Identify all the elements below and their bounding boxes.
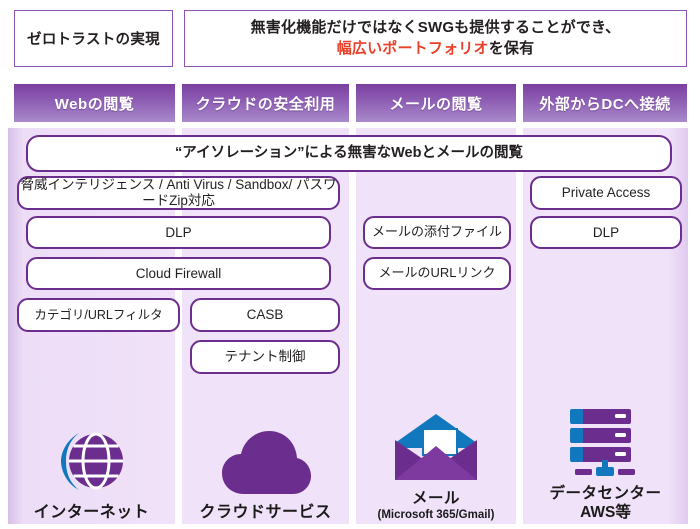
capability-dlp-web-label: DLP — [165, 225, 191, 241]
endpoint-datacenter-label: データセンター — [549, 485, 661, 503]
message-line-2: 幅広いポートフォリオを保有 — [337, 39, 535, 59]
capability-cloud-firewall: Cloud Firewall — [26, 257, 331, 290]
message-highlight: 幅広いポートフォリオ — [337, 40, 489, 57]
column-header-cloud-label: クラウドの安全利用 — [196, 93, 336, 114]
endpoint-internet-label: インターネット — [34, 504, 150, 523]
endpoint-datacenter-sublabel: AWS等 — [580, 504, 631, 523]
message-line-1: 無害化機能だけではなくSWGも提供することができ、 — [251, 18, 621, 38]
endpoint-mail-sublabel: (Microsoft 365/Gmail) — [378, 509, 495, 523]
message-line-2-rest: を保有 — [489, 40, 535, 57]
column-header-web: Webの閲覧 — [14, 84, 175, 122]
capability-private-access-label: Private Access — [562, 185, 651, 201]
cloud-icon — [220, 420, 312, 498]
capability-mail-url-link: メールのURLリンク — [363, 257, 511, 290]
endpoint-datacenter: データセンター AWS等 — [523, 401, 688, 523]
top-title-row: ゼロトラストの実現 無害化機能だけではなくSWGも提供することができ、 幅広いポ… — [0, 0, 700, 76]
capability-threat-intelligence: 脅威インテリジェンス / Anti Virus / Sandbox/ パスワード… — [17, 176, 340, 210]
zero-trust-title-box: ゼロトラストの実現 — [14, 10, 173, 67]
capability-private-access: Private Access — [530, 176, 682, 210]
endpoint-mail-label: メール — [412, 490, 460, 508]
column-header-cloud: クラウドの安全利用 — [182, 84, 349, 122]
capability-cloud-firewall-label: Cloud Firewall — [136, 266, 222, 282]
endpoint-cloud-service: クラウドサービス — [182, 420, 349, 523]
column-header-web-label: Webの閲覧 — [55, 93, 134, 114]
mail-icon — [393, 406, 479, 484]
isolation-banner-label: “アイソレーション”による無害なWebとメールの閲覧 — [175, 145, 523, 162]
message-box: 無害化機能だけではなくSWGも提供することができ、 幅広いポートフォリオを保有 — [184, 10, 687, 67]
column-header-datacenter-label: 外部からDCへ接続 — [539, 93, 670, 114]
endpoint-cloud-service-label: クラウドサービス — [199, 504, 331, 523]
capability-tenant-control: テナント制御 — [190, 340, 340, 374]
diagram-canvas: ゼロトラストの実現 無害化機能だけではなくSWGも提供することができ、 幅広いポ… — [0, 0, 700, 529]
isolation-banner: “アイソレーション”による無害なWebとメールの閲覧 — [26, 135, 672, 172]
capability-tenant-control-label: テナント制御 — [225, 349, 306, 365]
datacenter-icon — [567, 401, 645, 479]
globe-icon — [55, 420, 129, 498]
column-header-mail-label: メールの閲覧 — [389, 93, 482, 114]
capability-category-url-filter-label: カテゴリ/URLフィルタ — [34, 308, 162, 322]
column-header-mail: メールの閲覧 — [356, 84, 516, 122]
capability-mail-url-link-label: メールのURLリンク — [378, 266, 495, 281]
capability-dlp-datacenter: DLP — [530, 216, 682, 249]
endpoint-internet: インターネット — [8, 420, 175, 523]
capability-casb: CASB — [190, 298, 340, 332]
endpoint-mail: メール (Microsoft 365/Gmail) — [356, 406, 516, 523]
capability-mail-attachment: メールの添付ファイル — [363, 216, 511, 249]
capability-mail-attachment-label: メールの添付ファイル — [372, 225, 502, 240]
column-header-datacenter: 外部からDCへ接続 — [523, 84, 687, 122]
capability-dlp-datacenter-label: DLP — [593, 225, 619, 241]
capability-dlp-web: DLP — [26, 216, 331, 249]
capability-casb-label: CASB — [247, 307, 284, 323]
capability-threat-intelligence-label: 脅威インテリジェンス / Anti Virus / Sandbox/ パスワード… — [19, 177, 338, 208]
zero-trust-title-label: ゼロトラストの実現 — [27, 28, 160, 49]
capability-category-url-filter: カテゴリ/URLフィルタ — [17, 298, 180, 332]
